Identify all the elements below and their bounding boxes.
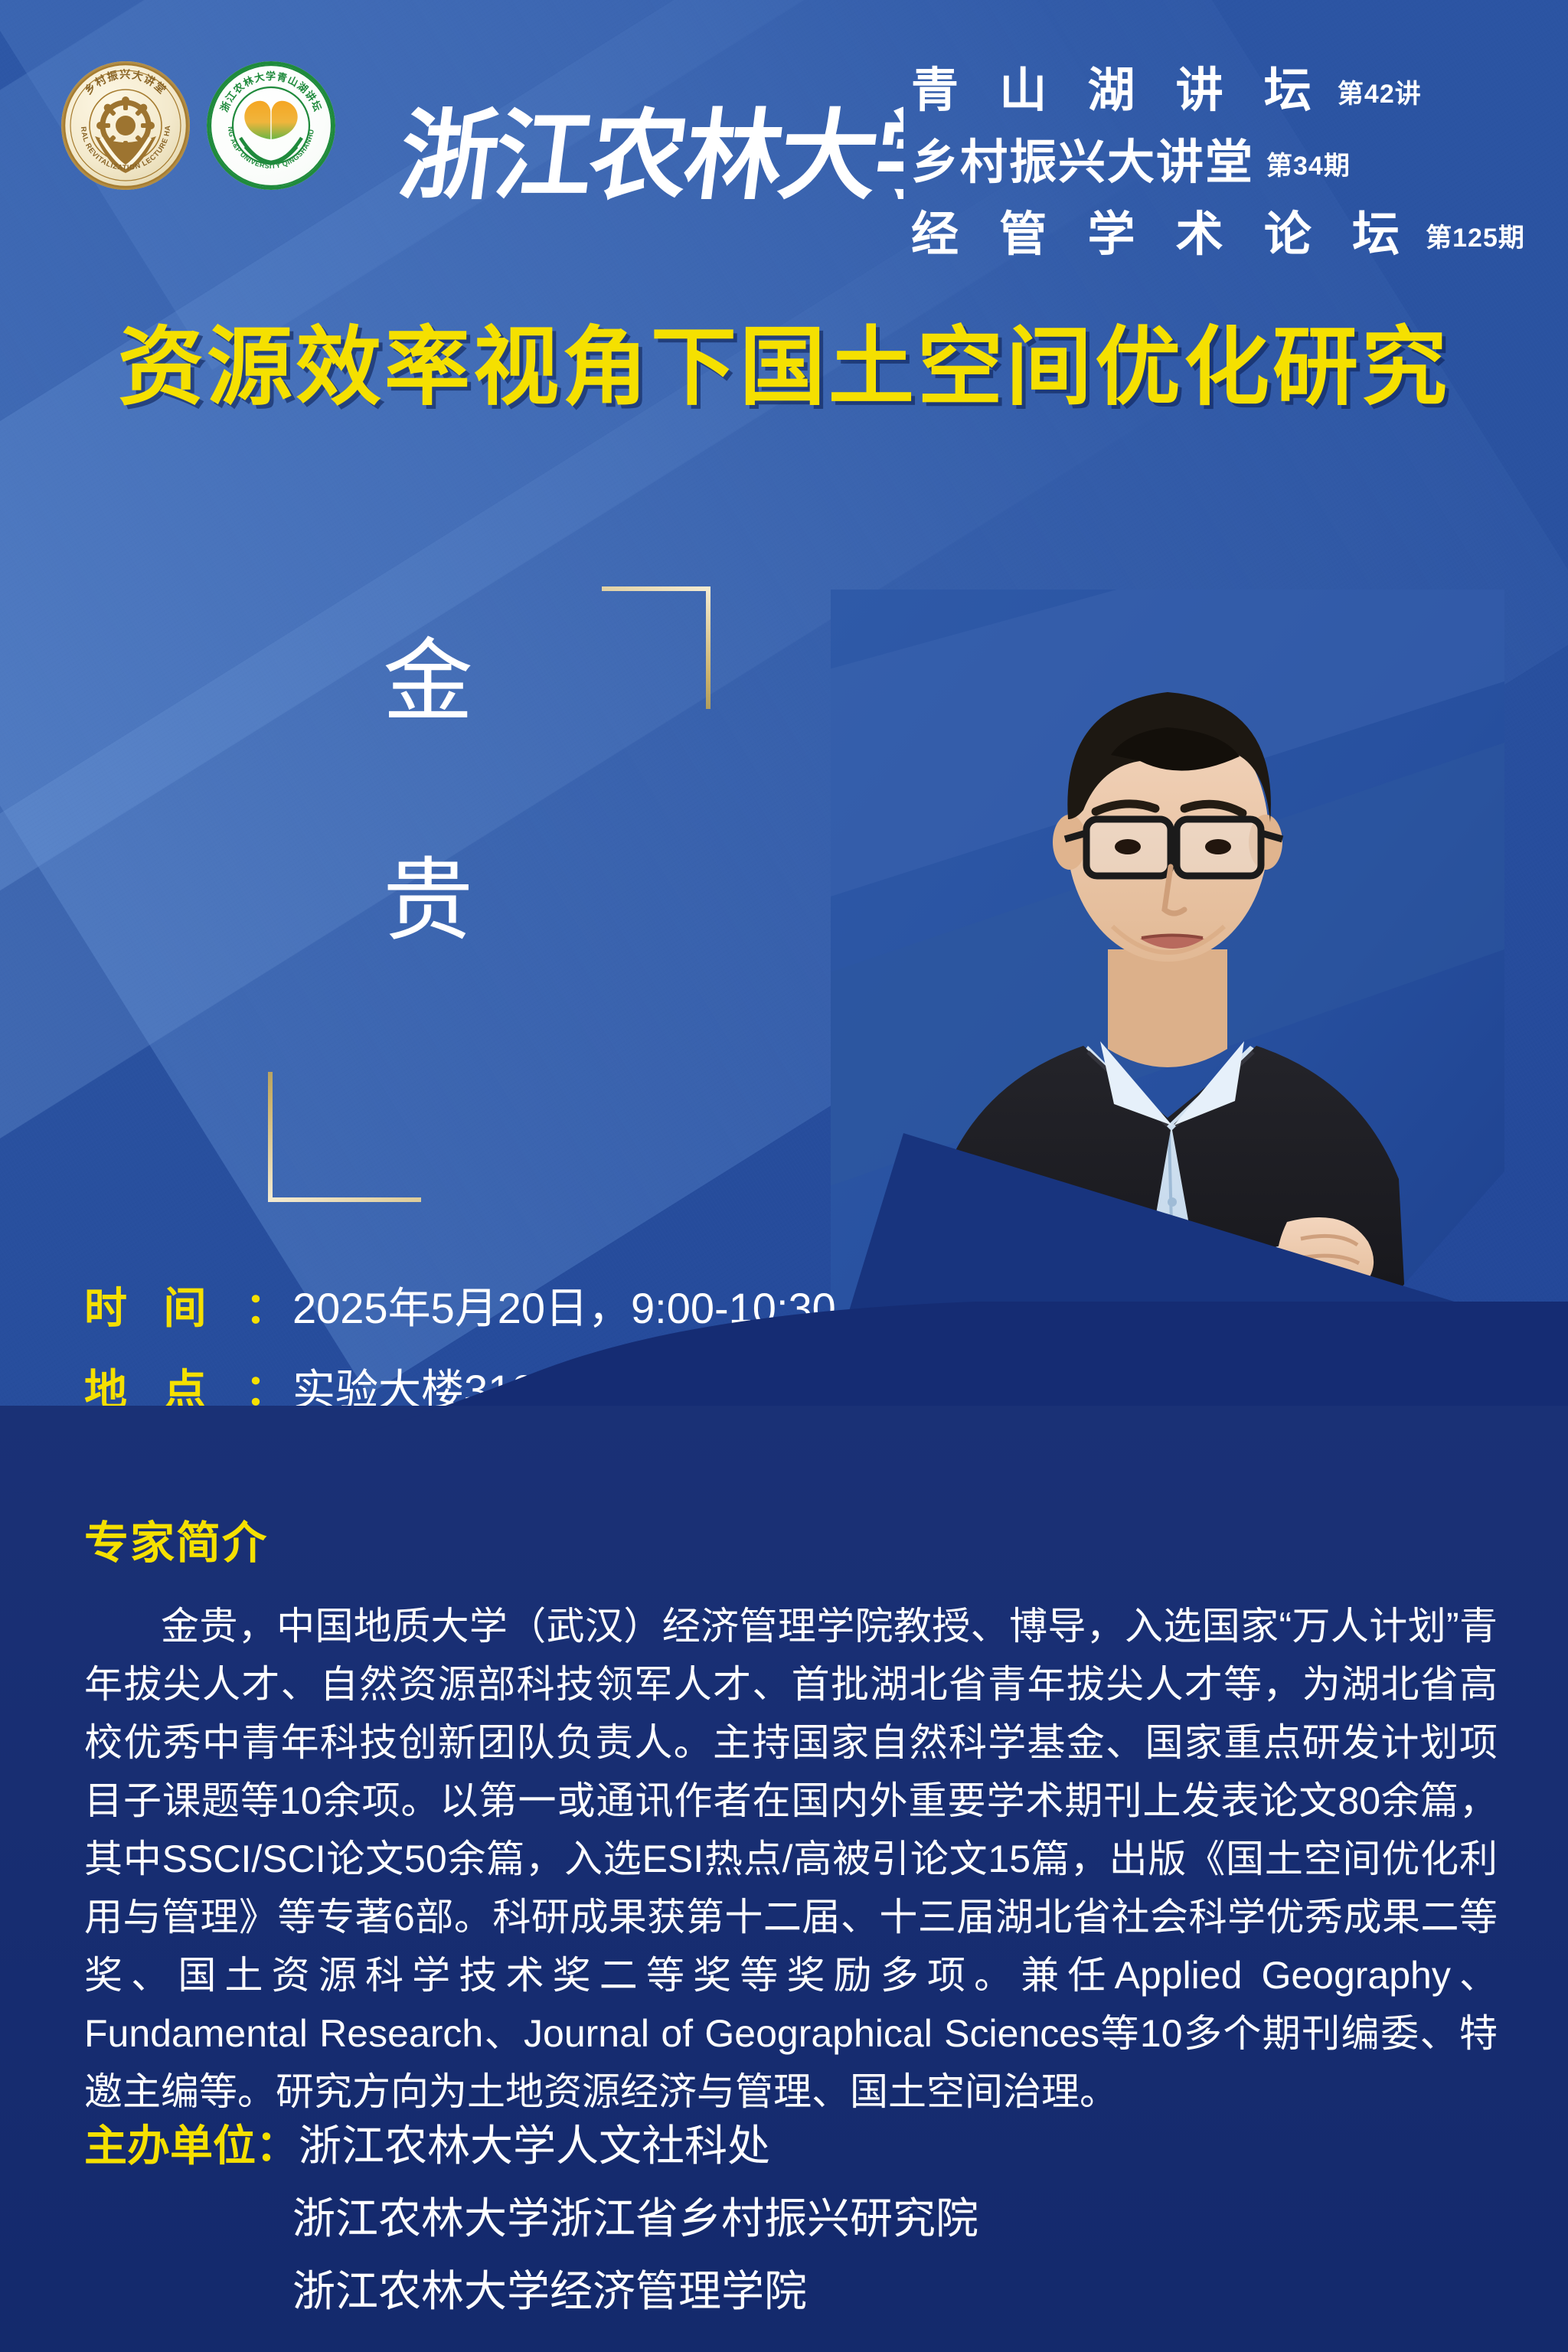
series-row: 乡村振兴大讲堂 第34期 [911, 119, 1547, 187]
organizer-row-3: 浙江农林大学经济管理学院 [84, 2257, 1309, 2319]
series-number-rural: 第34期 [1266, 145, 1351, 187]
organizer-row-2: 浙江农林大学浙江省乡村振兴研究院 [84, 2184, 1309, 2246]
speaker-name-char-2: 贵 [383, 856, 567, 946]
speaker-bio-text: 金贵，中国地质大学（武汉）经济管理学院教授、博导，入选国家“万人计划”青年拔尖人… [84, 1597, 1498, 2121]
speaker-bio-section: 专家简介 金贵，中国地质大学（武汉）经济管理学院教授、博导，入选国家“万人计划”… [84, 1507, 1498, 2121]
zhejiang-ap-university-qingshanhu-forum-seal-icon: 浙江农林大学青山湖讲坛 ZHEJIANG A&P UNIVERSITY QING… [207, 61, 335, 190]
university-name-text: 浙江农林大学 [398, 98, 903, 213]
lecture-poster: 乡村振兴大讲堂 RURAL REVITALIZATION LECTURE HAL… [0, 0, 1568, 2352]
series-title-qingshanhu: 青 山 湖 讲 坛 [911, 67, 1325, 115]
speaker-name: 金 贵 [383, 637, 567, 946]
speaker-bio-heading: 专家简介 [84, 1507, 1498, 1571]
organizer-name-3: 浙江农林大学经济管理学院 [292, 2257, 807, 2319]
gold-bracket-top-right-icon [602, 586, 710, 709]
series-number-econ: 第125期 [1426, 217, 1525, 259]
poster-header: 乡村振兴大讲堂 RURAL REVITALIZATION LECTURE HAL… [0, 40, 1568, 269]
logo-group: 乡村振兴大讲堂 RURAL REVITALIZATION LECTURE HAL… [61, 61, 335, 190]
speaker-name-block: 金 贵 [253, 582, 727, 1210]
organizer-row-1: 主办单位： 浙江农林大学人文社科处 [84, 2112, 1309, 2174]
series-list: 青 山 湖 讲 坛 第42讲 乡村振兴大讲堂 第34期 经 管 学 术 论 坛 … [911, 47, 1547, 263]
series-title-econ: 经 管 学 术 论 坛 [911, 211, 1413, 259]
organizers-label: 主办单位： [84, 2112, 299, 2174]
gold-bracket-bottom-left-icon [268, 1072, 421, 1202]
university-name-calligraphy: 浙江农林大学 [398, 73, 903, 234]
organizer-name-2: 浙江农林大学浙江省乡村振兴研究院 [292, 2184, 978, 2246]
poster-main-title: 资源效率视角下国土空间优化研究 [0, 320, 1568, 414]
series-row: 青 山 湖 讲 坛 第42讲 [911, 47, 1547, 115]
series-title-rural: 乡村振兴大讲堂 [911, 139, 1254, 187]
series-row: 经 管 学 术 论 坛 第125期 [911, 191, 1547, 259]
rural-revitalization-lecture-hall-seal-icon: 乡村振兴大讲堂 RURAL REVITALIZATION LECTURE HAL… [61, 61, 190, 190]
series-number-qingshanhu: 第42讲 [1338, 73, 1422, 115]
organizer-name-1: 浙江农林大学人文社科处 [299, 2112, 770, 2174]
speaker-name-char-1: 金 [383, 637, 567, 727]
organizers-section: 主办单位： 浙江农林大学人文社科处 浙江农林大学浙江省乡村振兴研究院 浙江农林大… [84, 2112, 1309, 2330]
